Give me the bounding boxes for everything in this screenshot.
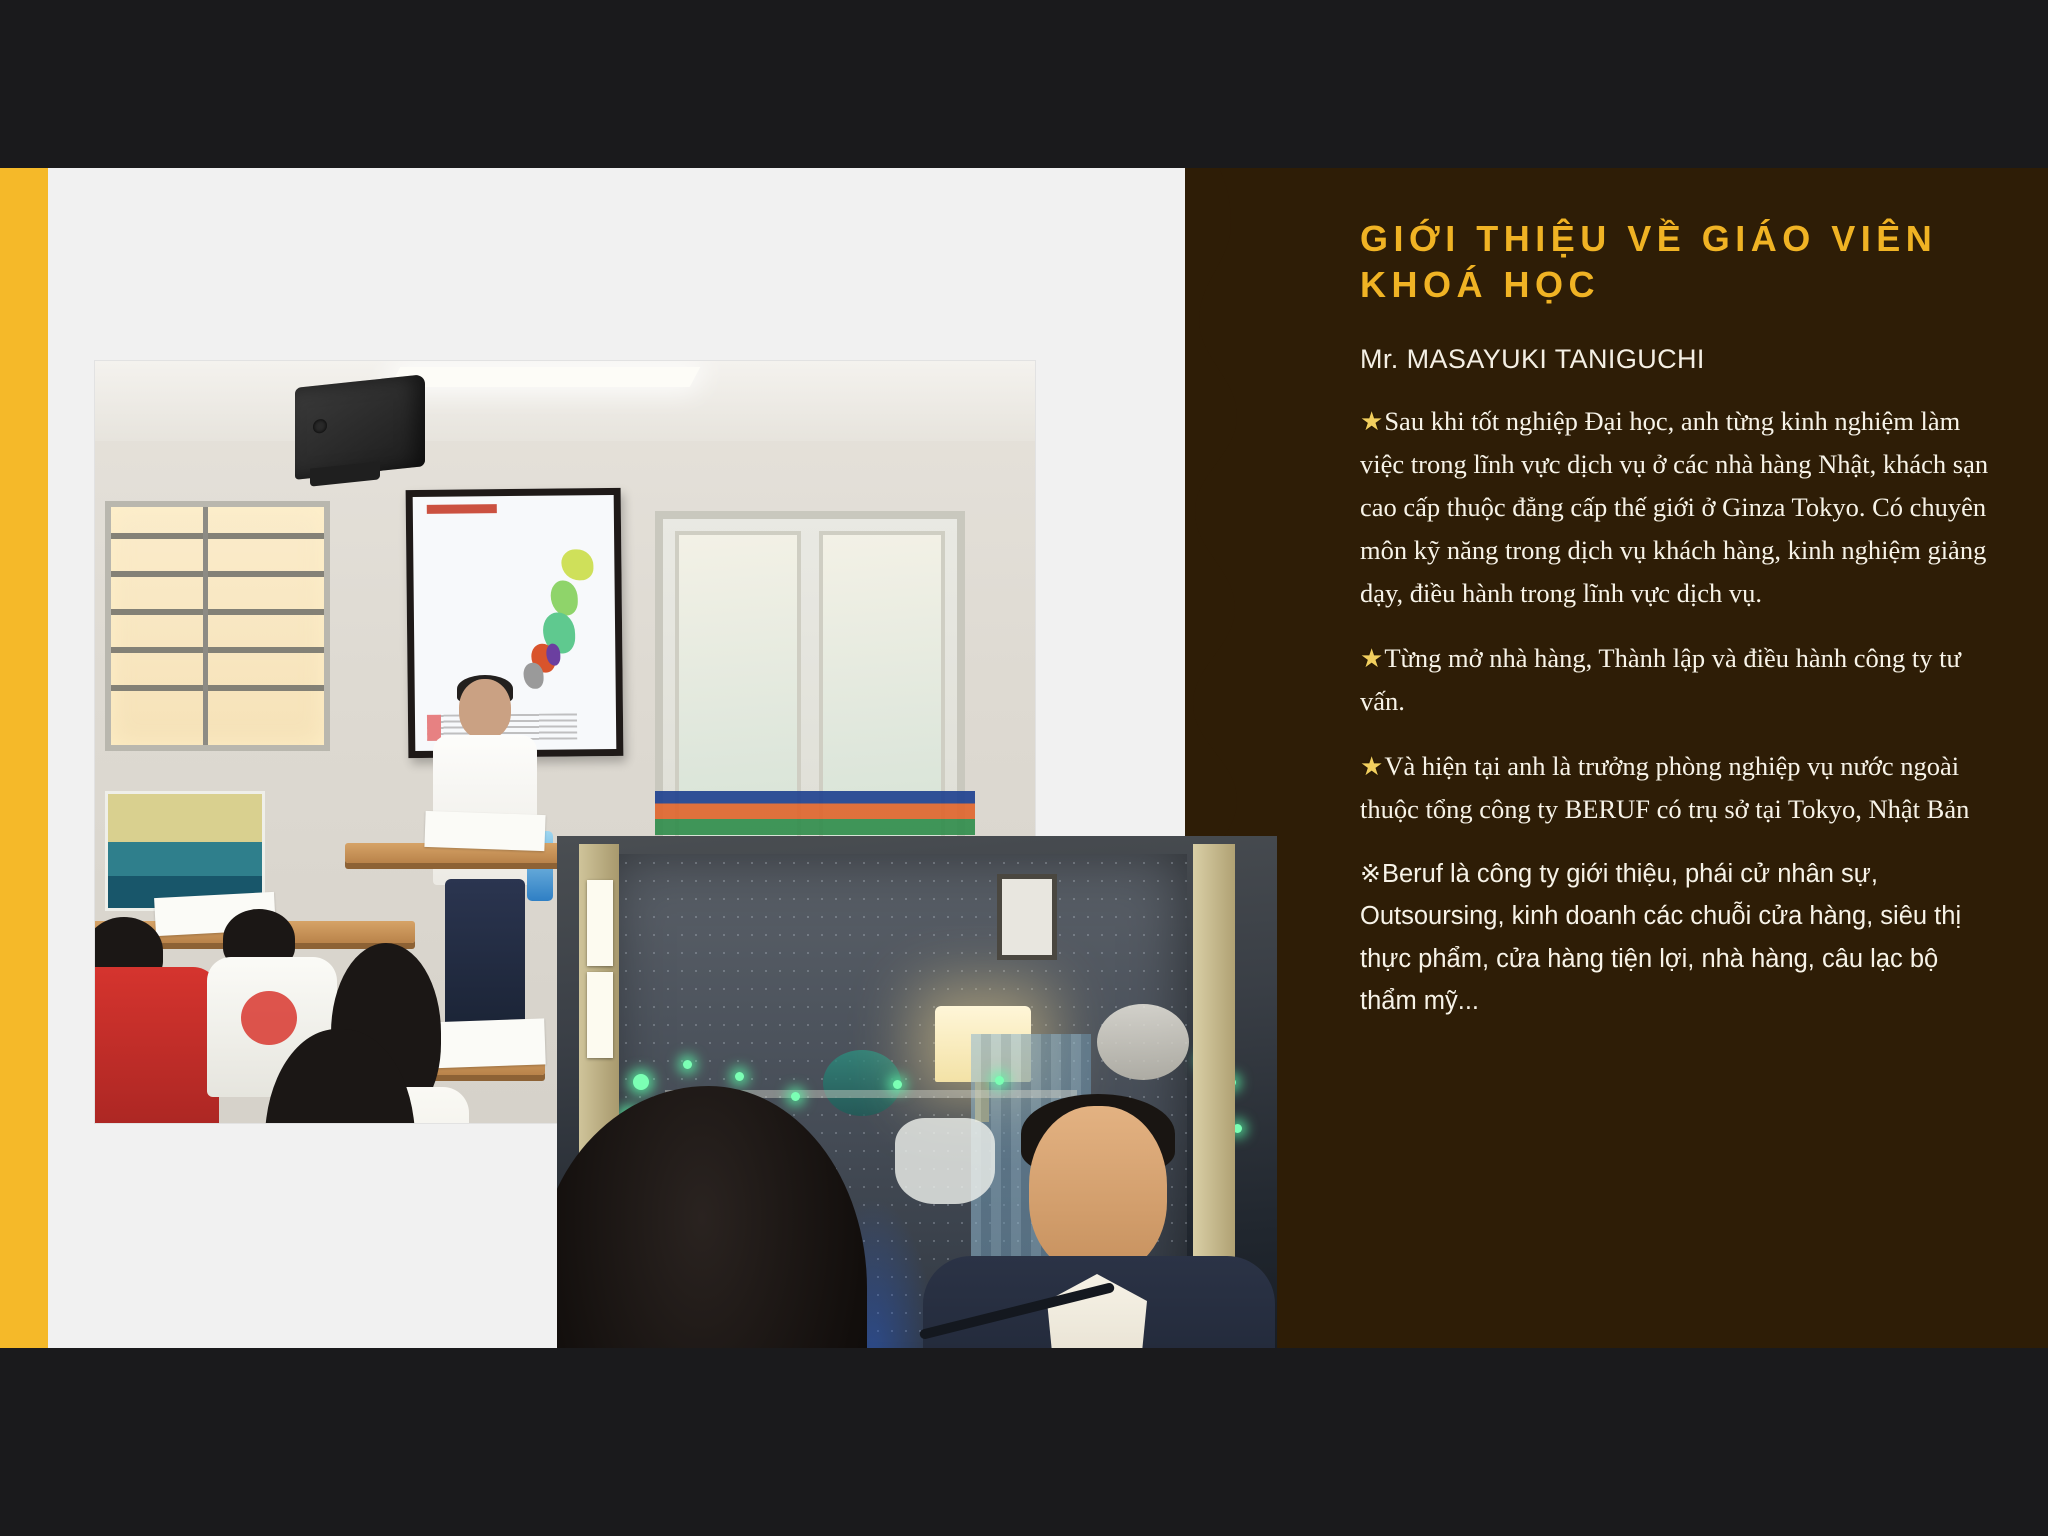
body-paragraph: ★Và hiện tại anh là trưởng phòng nghiệp … bbox=[1360, 745, 2000, 831]
text-column: GIỚI THIỆU VỀ GIÁO VIÊN KHOÁ HỌC Mr. MAS… bbox=[1360, 168, 2008, 1348]
body-paragraph-text: Và hiện tại anh là trưởng phòng nghiệp v… bbox=[1360, 751, 1969, 824]
slide-canvas: GIỚI THIỆU VỀ GIÁO VIÊN KHOÁ HỌC Mr. MAS… bbox=[0, 168, 2048, 1348]
classroom-window bbox=[105, 501, 330, 751]
letterbox-top-bar bbox=[0, 0, 2048, 168]
star-bullet-icon: ★ bbox=[1360, 407, 1383, 436]
star-bullet-icon: ★ bbox=[1360, 644, 1383, 673]
body-paragraph-text: Beruf là công ty giới thiệu, phái cử nhâ… bbox=[1360, 860, 1961, 1015]
speaker-photo bbox=[557, 836, 1277, 1348]
page-title: GIỚI THIỆU VỀ GIÁO VIÊN KHOÁ HỌC bbox=[1360, 216, 2000, 308]
notebook-paper bbox=[424, 811, 545, 851]
body-paragraph-text: Từng mở nhà hàng, Thành lập và điều hành… bbox=[1360, 643, 1961, 716]
reference-mark-icon: ※ bbox=[1360, 860, 1381, 888]
body-paragraph: ★Từng mở nhà hàng, Thành lập và điều hàn… bbox=[1360, 637, 2000, 723]
wall-note bbox=[587, 972, 613, 1058]
wall-note bbox=[587, 880, 613, 966]
body-paragraph: ★Sau khi tốt nghiệp Đại học, anh từng ki… bbox=[1360, 400, 2000, 615]
body-paragraph-text: Sau khi tốt nghiệp Đại học, anh từng kin… bbox=[1360, 406, 1988, 608]
star-bullet-icon: ★ bbox=[1360, 752, 1383, 781]
presenter-figure bbox=[887, 1106, 1277, 1348]
left-accent-bar bbox=[0, 168, 48, 1348]
letterbox-bottom-bar bbox=[0, 1348, 2048, 1536]
door-stripe-decal bbox=[655, 791, 975, 835]
body-paragraph: ※Beruf là công ty giới thiệu, phái cử nh… bbox=[1360, 853, 2000, 1022]
body-paragraph-list: ★Sau khi tốt nghiệp Đại học, anh từng ki… bbox=[1360, 400, 2000, 1044]
presenter-name: Mr. MASAYUKI TANIGUCHI bbox=[1360, 344, 2000, 375]
